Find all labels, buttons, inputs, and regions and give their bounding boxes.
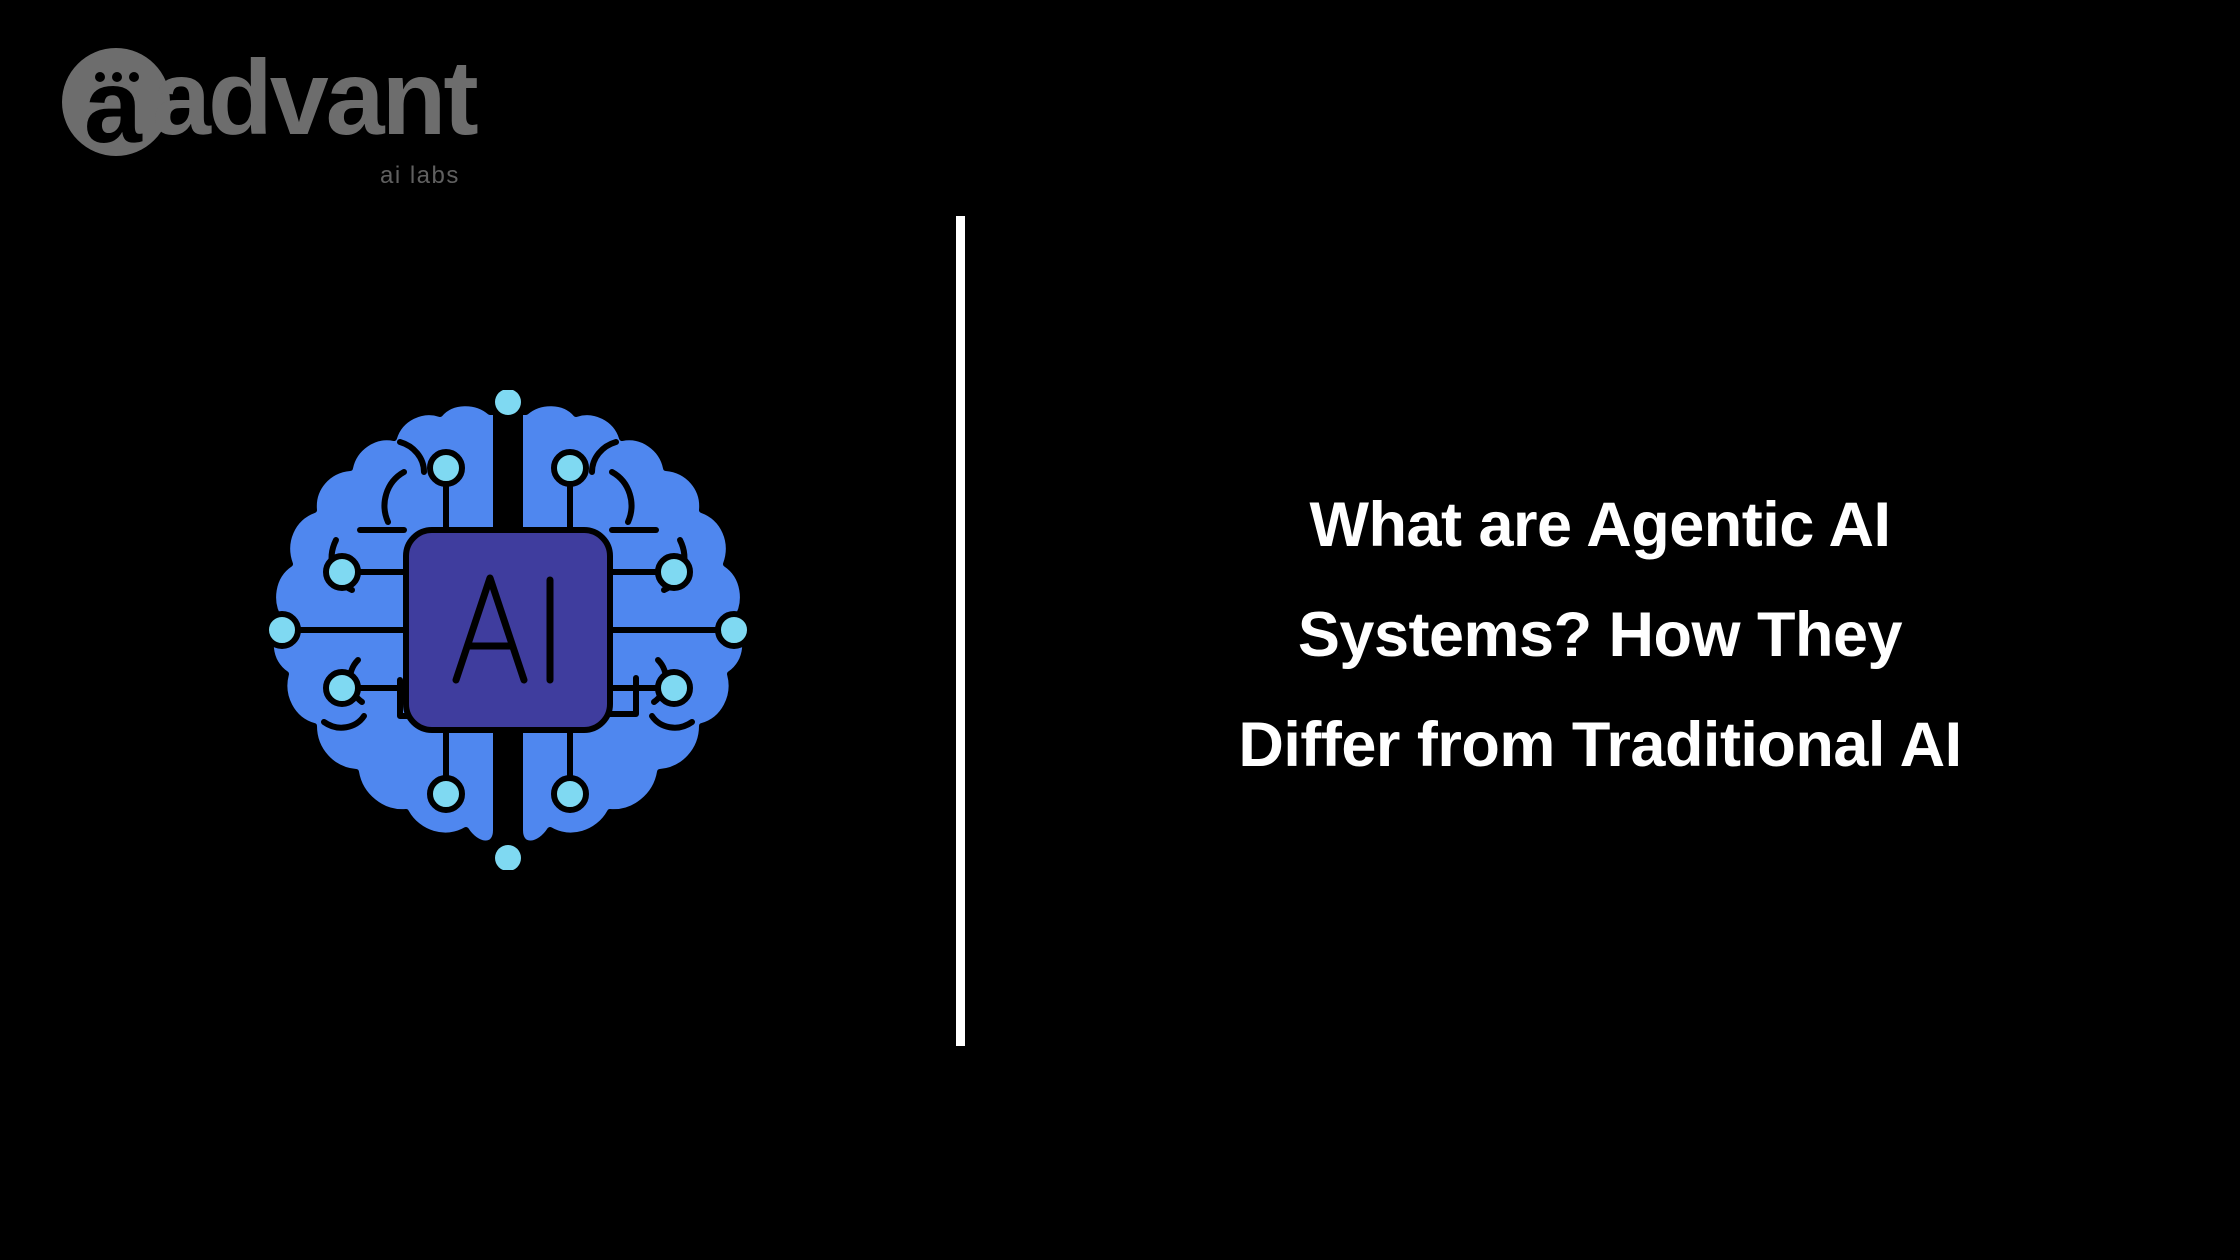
brand-logo[interactable]: a advant ai labs [62, 28, 462, 178]
title-line-2: Systems? How They [1040, 580, 2160, 690]
node-left-lower [326, 672, 358, 704]
logo-diaeresis-dots-icon [95, 72, 139, 82]
node-right-upper [658, 556, 690, 588]
node-bottom-right [554, 778, 586, 810]
logo-tagline: ai labs [380, 162, 460, 190]
vertical-divider [956, 216, 965, 1046]
ai-brain-illustration [228, 390, 788, 870]
logo-dot-1 [95, 72, 105, 82]
node-bottom-left [430, 778, 462, 810]
floating-dot-bottom [495, 845, 521, 870]
node-top-left [430, 452, 462, 484]
title-line-1: What are Agentic AI [1040, 470, 2160, 580]
logo-dot-3 [129, 72, 139, 82]
logo-dot-2 [112, 72, 122, 82]
node-right-mid [718, 614, 750, 646]
page-title: What are Agentic AI Systems? How They Di… [1040, 470, 2160, 800]
slide-canvas: a advant ai labs [0, 0, 2240, 1260]
node-top-right [554, 452, 586, 484]
logo-wordmark: advant [152, 40, 476, 156]
node-left-mid [266, 614, 298, 646]
node-left-upper [326, 556, 358, 588]
node-right-lower [658, 672, 690, 704]
ai-brain-svg [228, 390, 788, 870]
floating-dot-top [495, 390, 521, 415]
title-line-3: Differ from Traditional AI [1040, 690, 2160, 800]
brain-body [266, 390, 750, 870]
